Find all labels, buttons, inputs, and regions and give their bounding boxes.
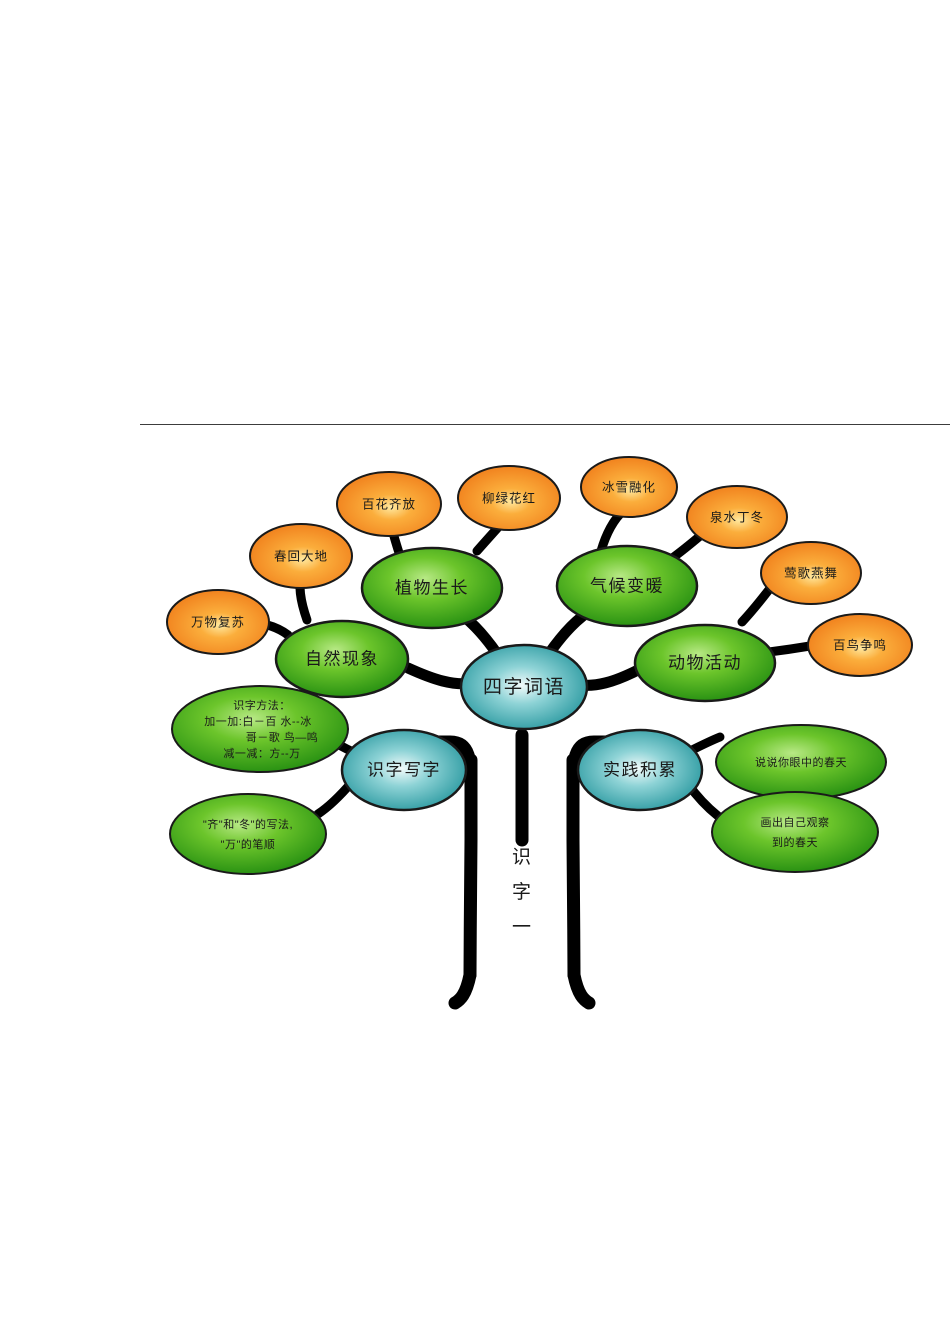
detail-node-shuoshuo[interactable]: 说说你眼中的春天 bbox=[716, 725, 886, 799]
center-node[interactable]: 四字词语 bbox=[461, 645, 587, 729]
leaf-node-wanwu[interactable]: 万物复苏 bbox=[167, 590, 269, 654]
leaf-label: 冰雪融化 bbox=[602, 480, 656, 494]
detail-node-huachu[interactable]: 画出自己观察 到的春天 bbox=[712, 792, 878, 872]
detail-line: 哥－歌 鸟—鸣 bbox=[246, 730, 319, 744]
branch-label: 自然现象 bbox=[305, 649, 379, 668]
branch-label: 植物生长 bbox=[395, 578, 469, 597]
leaf-node-liulv[interactable]: 柳绿花红 bbox=[458, 466, 560, 530]
detail-line: 识字方法： bbox=[233, 698, 291, 712]
detail-line: 减一减：方--万 bbox=[223, 746, 300, 760]
detail-line: 说说你眼中的春天 bbox=[755, 755, 847, 769]
leaf-label: 莺歌燕舞 bbox=[784, 565, 838, 580]
detail-node-shizifangfa[interactable]: 识字方法： 加一加:白－百 水--冰 哥－歌 鸟—鸣 减一减：方--万 bbox=[172, 686, 348, 772]
detail-line: "万"的笔顺 bbox=[221, 837, 276, 851]
side-node-shijian[interactable]: 实践积累 bbox=[578, 730, 702, 810]
detail-line: "齐"和"冬"的写法, bbox=[203, 817, 293, 831]
leaf-node-baihua[interactable]: 百花齐放 bbox=[337, 472, 441, 536]
leaf-label: 春回大地 bbox=[274, 549, 328, 563]
leaf-label: 百花齐放 bbox=[362, 496, 416, 511]
leaf-node-chunhui[interactable]: 春回大地 bbox=[250, 524, 352, 588]
leaf-node-bingxue[interactable]: 冰雪融化 bbox=[581, 457, 677, 517]
branch-node-qihou[interactable]: 气候变暖 bbox=[557, 546, 697, 626]
side-node-shizi[interactable]: 识字写字 bbox=[342, 730, 466, 810]
side-label: 识字写字 bbox=[367, 760, 441, 779]
trunk-char: 一 bbox=[512, 917, 532, 938]
trunk-char: 字 bbox=[512, 881, 532, 903]
leaf-label: 万物复苏 bbox=[191, 614, 245, 629]
branch-label: 动物活动 bbox=[668, 653, 742, 672]
branch-node-zhiwu[interactable]: 植物生长 bbox=[362, 548, 502, 628]
detail-line: 画出自己观察 bbox=[761, 815, 830, 829]
branch-node-dongwu[interactable]: 动物活动 bbox=[635, 625, 775, 701]
branch-label: 气候变暖 bbox=[590, 576, 664, 595]
detail-line: 到的春天 bbox=[772, 835, 818, 849]
detail-line: 加一加:白－百 水--冰 bbox=[204, 714, 311, 728]
leaf-node-bainiao[interactable]: 百鸟争鸣 bbox=[808, 614, 912, 676]
page-canvas: 万物复苏 春回大地 百花齐放 柳绿花红 冰雪融化 泉水丁冬 莺歌燕舞 百鸟争鸣 bbox=[0, 0, 950, 1344]
leaf-label: 柳绿花红 bbox=[482, 490, 536, 505]
trunk-label: 识 字 一 bbox=[512, 846, 532, 938]
center-label: 四字词语 bbox=[483, 676, 565, 698]
leaf-label: 百鸟争鸣 bbox=[833, 637, 887, 652]
side-label: 实践积累 bbox=[603, 760, 677, 779]
leaf-label: 泉水丁冬 bbox=[710, 509, 764, 524]
leaf-node-quanshui[interactable]: 泉水丁冬 bbox=[687, 486, 787, 548]
leaf-node-yingge[interactable]: 莺歌燕舞 bbox=[761, 542, 861, 604]
trunk-char: 识 bbox=[512, 846, 532, 868]
detail-node-xiefa[interactable]: "齐"和"冬"的写法, "万"的笔顺 bbox=[170, 794, 326, 874]
branch-node-ziran[interactable]: 自然现象 bbox=[276, 621, 408, 697]
mind-map-diagram: 万物复苏 春回大地 百花齐放 柳绿花红 冰雪融化 泉水丁冬 莺歌燕舞 百鸟争鸣 bbox=[0, 0, 950, 1344]
